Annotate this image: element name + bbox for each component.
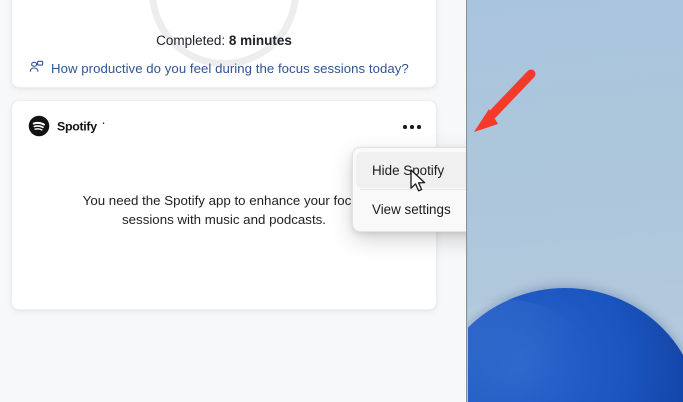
mouse-cursor bbox=[409, 169, 429, 200]
context-menu-item-label: View settings bbox=[372, 202, 451, 217]
screen: Completed: 8 minutes How productive do y… bbox=[0, 0, 683, 402]
completed-value: 8 minutes bbox=[229, 33, 292, 48]
ellipsis-dot-1 bbox=[403, 125, 407, 129]
focus-session-app-window: Completed: 8 minutes How productive do y… bbox=[0, 0, 467, 402]
focus-session-timer-card: Completed: 8 minutes How productive do y… bbox=[11, 0, 437, 88]
svg-text:Spotify: Spotify bbox=[57, 119, 97, 133]
spotify-card-more-options-button[interactable] bbox=[398, 115, 426, 139]
spotify-card-description: You need the Spotify app to enhance your… bbox=[74, 191, 374, 229]
completed-label: Completed: bbox=[156, 33, 225, 48]
feedback-link[interactable]: How productive do you feel during the fo… bbox=[51, 61, 409, 76]
ellipsis-dot-3 bbox=[417, 125, 421, 129]
spotify-brand-header: Spotify bbox=[28, 115, 122, 137]
completed-time-line: Completed: 8 minutes bbox=[12, 33, 436, 48]
spotify-logo-icon bbox=[28, 115, 50, 137]
desktop-wallpaper bbox=[468, 0, 683, 402]
spotify-wordmark: Spotify bbox=[57, 119, 122, 134]
feedback-link-row[interactable]: How productive do you feel during the fo… bbox=[28, 60, 409, 76]
feedback-survey-icon bbox=[28, 60, 44, 76]
red-annotation-arrow bbox=[462, 62, 552, 157]
ellipsis-dot-2 bbox=[410, 125, 414, 129]
